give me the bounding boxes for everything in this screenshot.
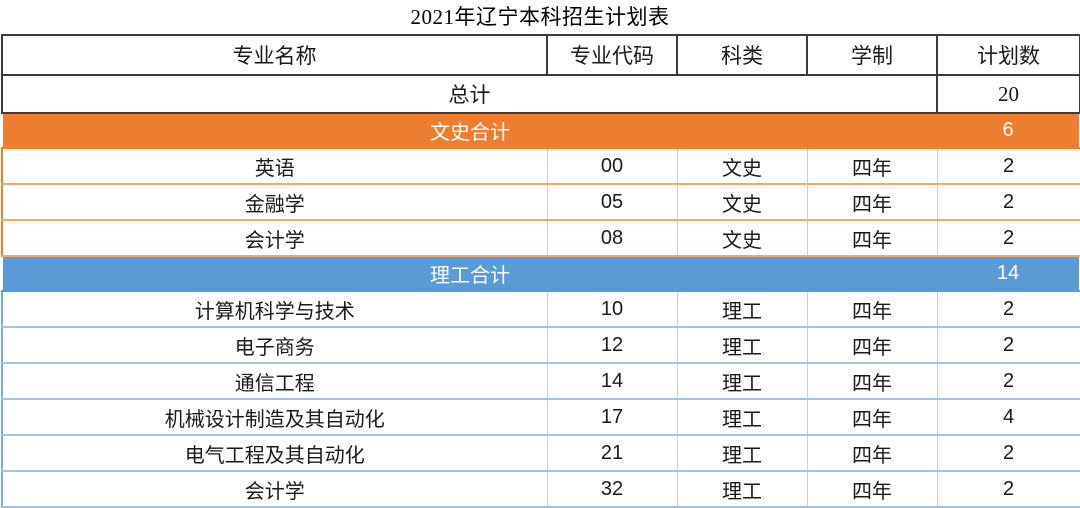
cell-major-code: 21	[547, 435, 677, 471]
cell-major-code: 05	[547, 184, 677, 220]
cell-category: 理工	[677, 291, 807, 327]
group-summary-row-wenshi: 文史合计 6	[2, 113, 1080, 148]
total-row: 总计 20	[2, 75, 1080, 113]
cell-count: 2	[937, 148, 1080, 184]
admission-plan-table: 专业名称 专业代码 科类 学制 计划数 总计 20 文史合计 6 英语 00 文…	[1, 34, 1080, 508]
cell-major-name: 英语	[2, 148, 547, 184]
table-row: 英语 00 文史 四年 2	[2, 148, 1080, 184]
cell-category: 理工	[677, 435, 807, 471]
cell-category: 文史	[677, 148, 807, 184]
cell-major-name: 电气工程及其自动化	[2, 435, 547, 471]
group-count-wenshi: 6	[937, 113, 1080, 148]
cell-duration: 四年	[807, 220, 937, 256]
cell-category: 文史	[677, 184, 807, 220]
cell-major-name: 会计学	[2, 220, 547, 256]
table-row: 金融学 05 文史 四年 2	[2, 184, 1080, 220]
table-row: 电气工程及其自动化 21 理工 四年 2	[2, 435, 1080, 471]
cell-count: 2	[937, 327, 1080, 363]
cell-count: 2	[937, 220, 1080, 256]
table-row: 机械设计制造及其自动化 17 理工 四年 4	[2, 399, 1080, 435]
cell-duration: 四年	[807, 184, 937, 220]
cell-duration: 四年	[807, 435, 937, 471]
cell-count: 2	[937, 471, 1080, 507]
cell-major-code: 14	[547, 363, 677, 399]
cell-category: 理工	[677, 327, 807, 363]
table-row: 计算机科学与技术 10 理工 四年 2	[2, 291, 1080, 327]
cell-major-code: 12	[547, 327, 677, 363]
cell-major-name: 金融学	[2, 184, 547, 220]
group-summary-row-ligong: 理工合计 14	[2, 256, 1080, 291]
table-row: 会计学 08 文史 四年 2	[2, 220, 1080, 256]
cell-major-name: 机械设计制造及其自动化	[2, 399, 547, 435]
header-cell-name: 专业名称	[2, 35, 547, 75]
cell-category: 理工	[677, 363, 807, 399]
cell-major-name: 会计学	[2, 471, 547, 507]
cell-major-code: 17	[547, 399, 677, 435]
header-cell-duration: 学制	[807, 35, 937, 75]
cell-duration: 四年	[807, 148, 937, 184]
cell-duration: 四年	[807, 471, 937, 507]
admission-plan-page: 2021年辽宁本科招生计划表 专业名称 专业代码 科类 学制 计划数 总计 20…	[0, 0, 1080, 508]
total-row-count: 20	[937, 75, 1080, 113]
group-count-ligong: 14	[937, 256, 1080, 291]
table-header-row: 专业名称 专业代码 科类 学制 计划数	[2, 35, 1080, 75]
cell-major-name: 计算机科学与技术	[2, 291, 547, 327]
cell-major-code: 00	[547, 148, 677, 184]
table-row: 通信工程 14 理工 四年 2	[2, 363, 1080, 399]
cell-major-name: 通信工程	[2, 363, 547, 399]
cell-count: 2	[937, 363, 1080, 399]
header-cell-count: 计划数	[937, 35, 1080, 75]
cell-major-code: 08	[547, 220, 677, 256]
cell-duration: 四年	[807, 327, 937, 363]
cell-category: 理工	[677, 471, 807, 507]
group-label-ligong: 理工合计	[2, 256, 937, 291]
total-row-label: 总计	[2, 75, 937, 113]
cell-duration: 四年	[807, 399, 937, 435]
table-row: 会计学 32 理工 四年 2	[2, 471, 1080, 507]
table-row: 电子商务 12 理工 四年 2	[2, 327, 1080, 363]
cell-major-code: 32	[547, 471, 677, 507]
header-cell-category: 科类	[677, 35, 807, 75]
cell-category: 理工	[677, 399, 807, 435]
table-body: 专业名称 专业代码 科类 学制 计划数 总计 20 文史合计 6 英语 00 文…	[2, 35, 1080, 507]
cell-duration: 四年	[807, 363, 937, 399]
cell-count: 2	[937, 291, 1080, 327]
cell-major-name: 电子商务	[2, 327, 547, 363]
cell-duration: 四年	[807, 291, 937, 327]
header-cell-code: 专业代码	[547, 35, 677, 75]
page-title: 2021年辽宁本科招生计划表	[0, 0, 1080, 34]
group-label-wenshi: 文史合计	[2, 113, 937, 148]
cell-count: 4	[937, 399, 1080, 435]
cell-category: 文史	[677, 220, 807, 256]
cell-count: 2	[937, 184, 1080, 220]
cell-major-code: 10	[547, 291, 677, 327]
cell-count: 2	[937, 435, 1080, 471]
